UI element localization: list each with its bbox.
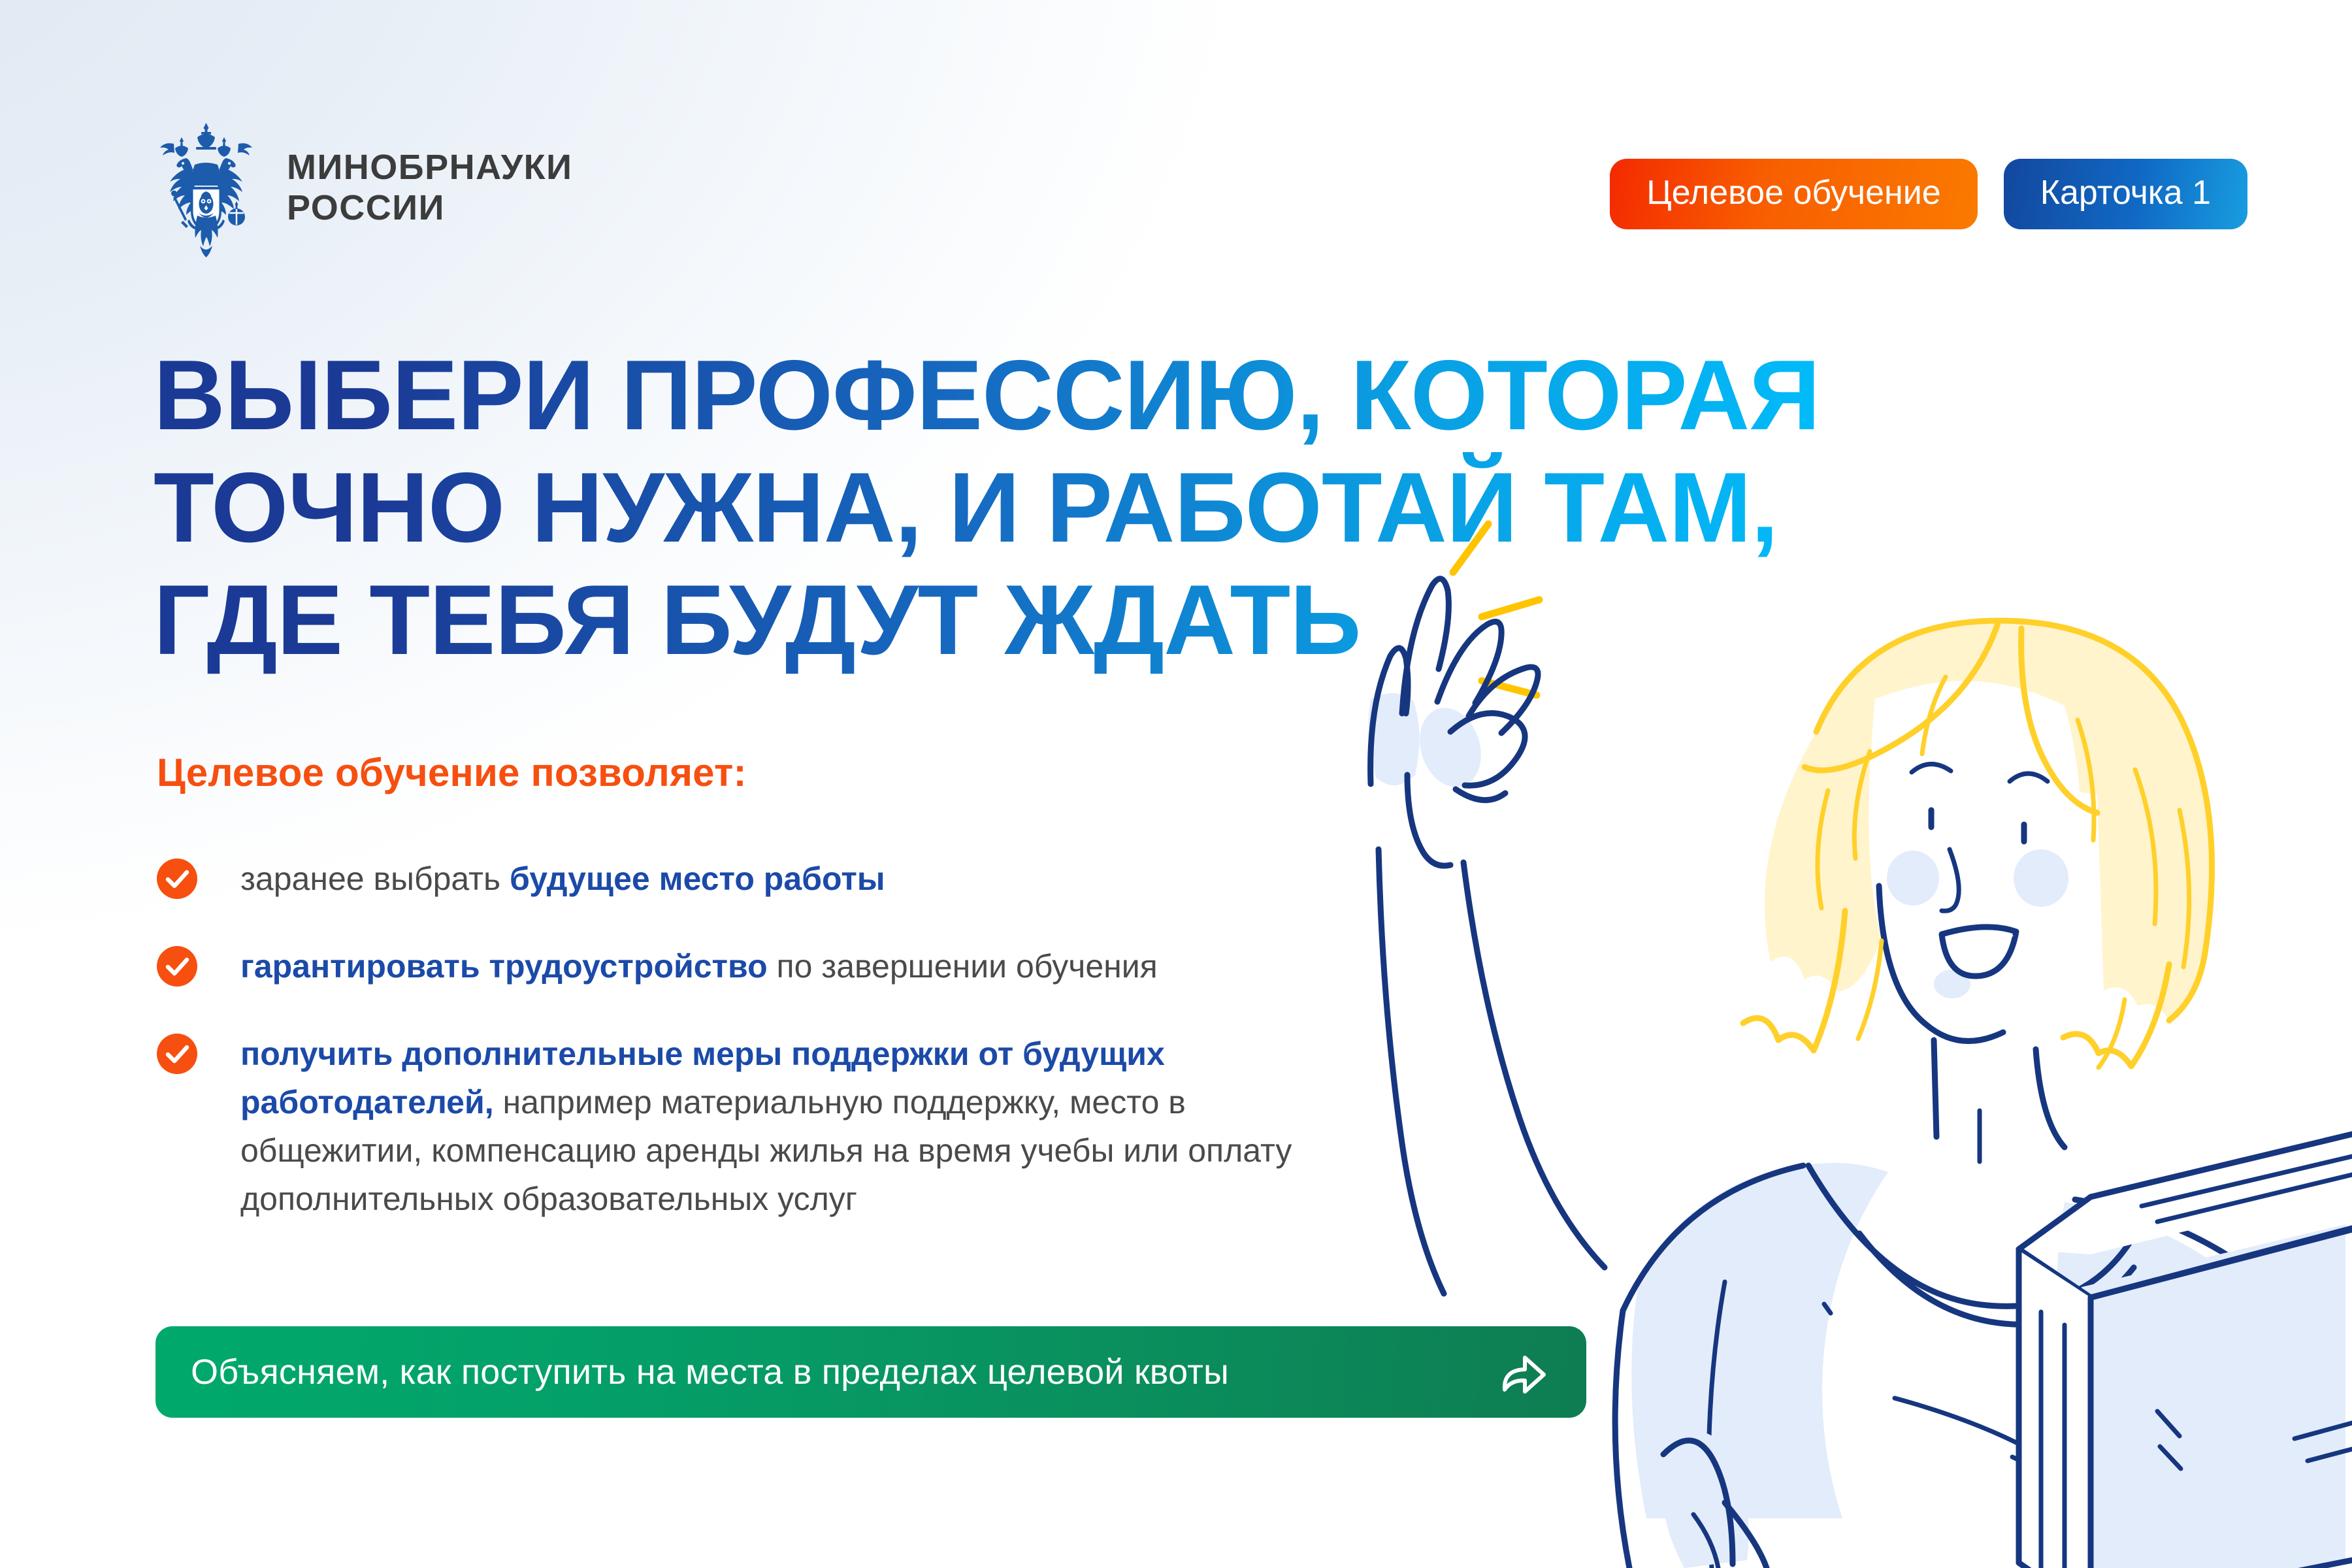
bullet-1-bold-a: будущее место работы: [510, 860, 885, 897]
headline: ВЫБЕРИ ПРОФЕССИЮ, КОТОРАЯ ТОЧНО НУЖНА, И…: [154, 340, 1931, 676]
bullet-2-plain-a: по завершении обучения: [768, 948, 1158, 985]
list-item: получить дополнительные меры поддержки о…: [157, 1030, 1372, 1223]
torso: [1615, 1163, 2318, 1568]
list-item-text: гарантировать трудоустройство по заверше…: [240, 942, 1372, 990]
share-arrow-icon: [1496, 1344, 1552, 1400]
check-circle-icon: [157, 858, 197, 899]
subtitle: Целевое обучение позволяет:: [157, 750, 747, 795]
headline-line-2: ТОЧНО НУЖНА, И РАБОТАЙ ТАМ,: [154, 452, 1931, 564]
bullet-1-plain-a: заранее выбрать: [240, 860, 510, 897]
badge-card-number[interactable]: Карточка 1: [2004, 159, 2247, 229]
cta-banner[interactable]: Объясняем, как поступить на места в пред…: [155, 1326, 1586, 1418]
hair-fill: [1765, 621, 2212, 1021]
check-circle-icon: [157, 1034, 197, 1074]
benefits-list: заранее выбрать будущее место работы гар…: [157, 855, 1372, 1223]
ministry-logo: МИНОБРНАУКИ РОССИИ: [149, 118, 572, 258]
cta-label: Объясняем, как поступить на места в пред…: [191, 1352, 1229, 1392]
bullet-2-bold-a: гарантировать трудоустройство: [240, 948, 768, 985]
headline-line-1: ВЫБЕРИ ПРОФЕССИЮ, КОТОРАЯ: [154, 340, 1931, 452]
ministry-logo-text: МИНОБРНАУКИ РОССИИ: [287, 148, 572, 228]
raised-arm: [1379, 849, 1605, 1294]
check-circle-icon: [157, 946, 197, 987]
headline-line-3: ГДЕ ТЕБЯ БУДУТ ЖДАТЬ: [154, 564, 1931, 677]
header: МИНОБРНАУКИ РОССИИ Целевое обучение Карт…: [0, 0, 2352, 274]
face: [1869, 681, 2081, 1162]
list-item: гарантировать трудоустройство по заверше…: [157, 942, 1372, 990]
lower-arm: [1661, 1430, 1767, 1568]
list-item: заранее выбрать будущее место работы: [157, 855, 1372, 903]
cardboard-box: [1985, 1134, 2352, 1568]
badge-target-education[interactable]: Целевое обучение: [1610, 159, 1978, 229]
list-item-text: заранее выбрать будущее место работы: [240, 855, 1372, 903]
list-item-text: получить дополнительные меры поддержки о…: [240, 1030, 1372, 1223]
russian-coat-of-arms-icon: [149, 118, 263, 258]
infographic-card: МИНОБРНАУКИ РОССИИ Целевое обучение Карт…: [0, 0, 2352, 1568]
header-badges: Целевое обучение Карточка 1: [1610, 159, 2247, 229]
arm-shading: [1368, 693, 1491, 795]
hair-strands: [1743, 621, 2212, 1068]
